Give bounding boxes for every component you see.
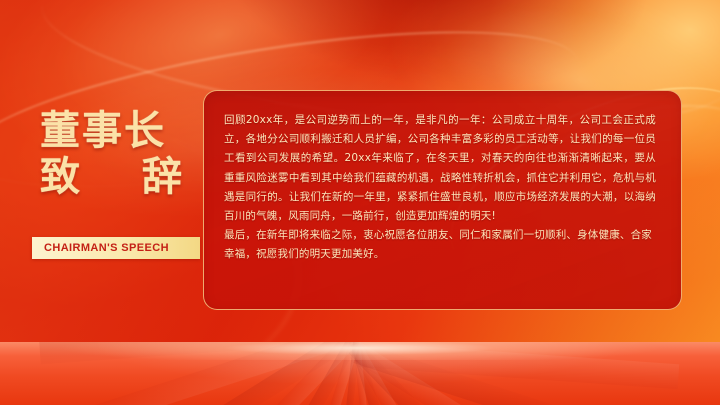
speech-paragraph-1: 回顾20xx年，是公司逆势而上的一年，是非凡的一年：公司成立十周年，公司工会正式… <box>224 111 656 226</box>
page-title-cn-line1: 董事长 <box>40 108 210 154</box>
page-title-cn-line2: 致 辞 <box>40 154 210 200</box>
horizon-glow <box>0 342 720 360</box>
page-subtitle-en: CHAIRMAN'S SPEECH <box>32 242 169 254</box>
slide-canvas: 董事长 致 辞 CHAIRMAN'S SPEECH 回顾20xx年，是公司逆势而… <box>0 0 720 405</box>
speech-body: 回顾20xx年，是公司逆势而上的一年，是非凡的一年：公司成立十周年，公司工会正式… <box>224 111 656 265</box>
speech-text-panel: 回顾20xx年，是公司逆势而上的一年，是非凡的一年：公司成立十周年，公司工会正式… <box>203 90 682 310</box>
speech-paragraph-2: 最后，在新年即将来临之际，衷心祝愿各位朋友、同仁和家属们一切顺利、身体健康、合家… <box>224 226 656 264</box>
title-block: 董事长 致 辞 <box>40 108 210 200</box>
perspective-floor <box>0 342 720 405</box>
subtitle-banner: CHAIRMAN'S SPEECH <box>32 237 200 259</box>
